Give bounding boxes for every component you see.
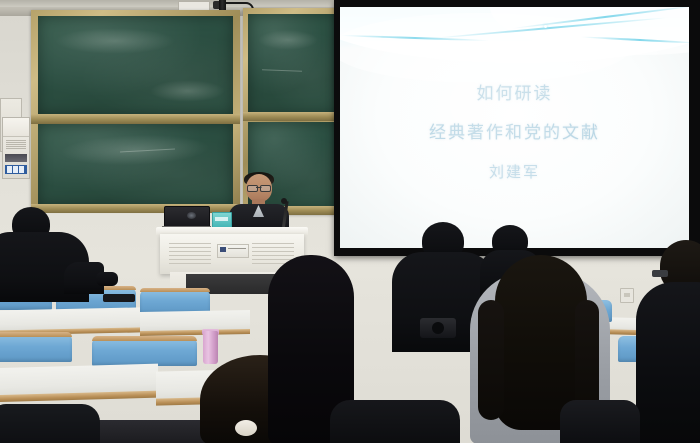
slide-author-name: 刘建军 [340, 161, 689, 182]
control-panel-buttons[interactable] [5, 165, 27, 174]
teal-box-label [215, 217, 228, 221]
audience-hair-strand [478, 300, 504, 420]
desk-device [103, 294, 135, 302]
microphone-icon [281, 198, 287, 204]
control-panel-display [5, 154, 27, 162]
chalkboard-panel-lower-left [38, 124, 233, 206]
lectern-vent-left [169, 243, 211, 267]
chair-trim [140, 288, 210, 292]
laptop-screen-glare [187, 212, 196, 219]
chair-trim [92, 336, 197, 341]
lectern-label-plate [217, 244, 249, 258]
classroom-control-panel[interactable] [2, 117, 30, 179]
chair-back [92, 338, 197, 366]
presenter [229, 174, 289, 230]
projection-screen: 如何研读 经典著作和党的文献 刘建军 [340, 7, 689, 248]
wall-socket-icon [620, 288, 634, 303]
thermos-cup [203, 331, 218, 364]
glasses-lens-right [260, 185, 271, 192]
slide-title-line2: 经典著作和党的文献 [340, 118, 689, 143]
chalk-rail [243, 112, 340, 121]
foreground-chair-mass [0, 404, 100, 443]
lectern-plate-text [228, 248, 246, 250]
audience-member-far-right [636, 282, 700, 443]
glasses-icon [247, 185, 271, 190]
lecture-hall-photo: 如何研读 经典著作和党的文献 刘建军 [0, 0, 700, 443]
teal-box-object [212, 212, 232, 228]
hair-scrunchie [235, 420, 257, 436]
control-button[interactable] [13, 166, 18, 173]
control-panel-grill [6, 140, 26, 150]
camera-lens-icon [432, 322, 444, 334]
chair-back [0, 334, 72, 362]
slide-text-block: 如何研读 经典著作和党的文献 刘建军 [340, 79, 689, 182]
chair-trim [0, 332, 72, 337]
control-button[interactable] [7, 166, 12, 173]
foreground-chair-mass [560, 400, 640, 443]
foreground-shoulder-mass [330, 400, 460, 443]
slide-sparkle-icon [544, 25, 547, 28]
chalk-rail [31, 114, 240, 124]
chalkboard-panel-upper-right [248, 14, 336, 114]
slide-title-line1: 如何研读 [340, 79, 689, 104]
control-panel-top [3, 118, 29, 137]
lectern-plate-logo-icon [220, 247, 226, 252]
audience-hand [96, 272, 118, 286]
audience-hair-strand [575, 300, 599, 415]
chalkboard-panel-upper-left [38, 16, 233, 115]
glasses-icon [652, 270, 668, 277]
control-button[interactable] [19, 166, 24, 173]
